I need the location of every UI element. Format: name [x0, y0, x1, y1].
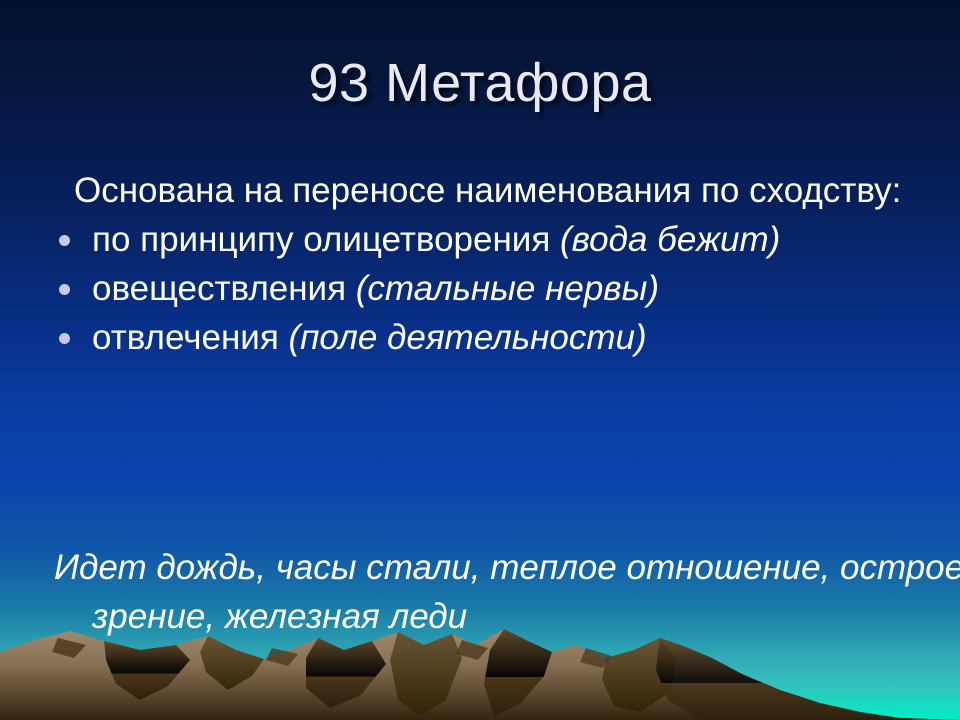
list-item-label: овеществления — [92, 269, 356, 308]
list-item-example: (вода бежит) — [560, 220, 780, 259]
list-item-example: (поле деятельности) — [289, 318, 647, 357]
slide-title: 93 Метафора — [0, 55, 960, 112]
list-item: овеществления (стальные нервы) — [50, 264, 916, 313]
list-item: по принципу олицетворения (вода бежит) — [50, 215, 916, 264]
slide-body: Основана на переносе наименования по схо… — [50, 166, 916, 362]
closing-paragraph: Идет дождь, часы стали, теплое отношение… — [50, 543, 960, 641]
list-item-label: по принципу олицетворения — [92, 220, 560, 259]
bullet-point-icon — [59, 235, 70, 246]
list-item-label: отвлечения — [92, 318, 289, 357]
list-item-example: (стальные нервы) — [356, 269, 659, 308]
bullet-point-icon — [59, 333, 70, 344]
lead-paragraph: Основана на переносе наименования по схо… — [50, 166, 916, 215]
list-item: отвлечения (поле деятельности) — [50, 313, 916, 362]
bullet-point-icon — [59, 284, 70, 295]
presentation-slide: 93 Метафора Основана на переносе наимено… — [0, 0, 960, 720]
